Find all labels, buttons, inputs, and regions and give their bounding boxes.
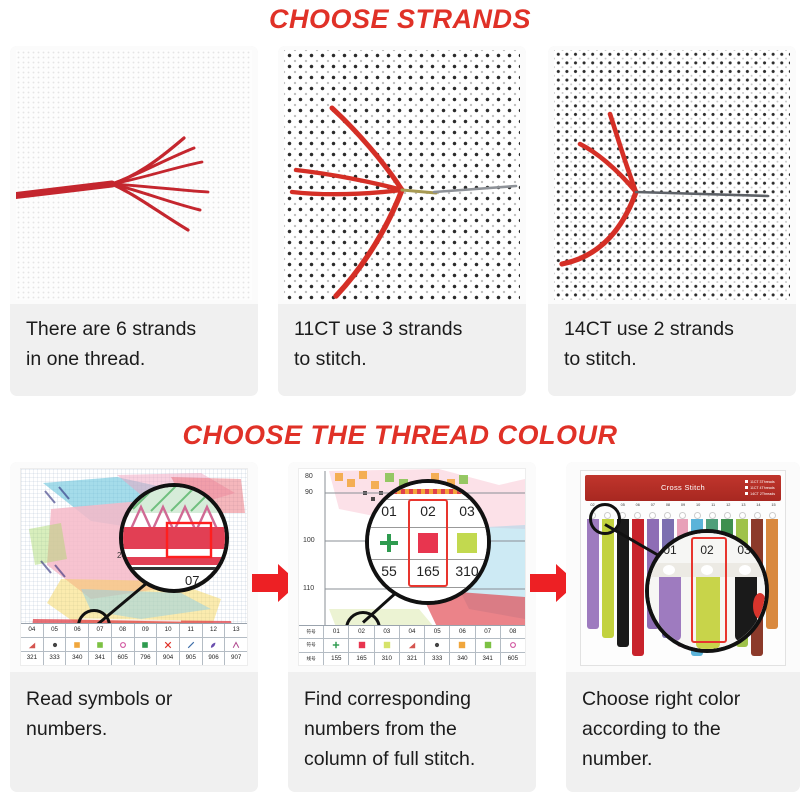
infographic-page: CHOOSE STRANDS There are 6 strands in on… [0, 0, 800, 800]
caption-line-1: There are 6 strands [26, 314, 248, 344]
legend-code-cell: 341 [476, 653, 501, 665]
legend-index-cell: 09 [135, 624, 158, 637]
dot-icon [44, 638, 67, 651]
thread-number: 15 [766, 503, 781, 512]
orange-square-icon [66, 638, 89, 651]
photo-thread-organiser: Cross Stitch 11CT 3Threads 11CT 4Threads… [566, 462, 800, 672]
caption-line-2: numbers from the [304, 714, 526, 744]
green-plus-icon [324, 639, 349, 651]
photo-pattern-chart: 24 [10, 462, 258, 672]
thread-number: 09 [675, 503, 690, 512]
legend-code-cell: 341 [89, 652, 112, 665]
section-title-choose-strands: CHOOSE STRANDS [0, 4, 800, 35]
pattern-symbol-legend: 04 05 06 07 08 09 10 11 12 13 [21, 623, 247, 665]
magnifier-source-ring [589, 503, 621, 535]
caption-11ct: 11CT use 3 strands to stitch. [294, 314, 516, 374]
skein-hole [709, 512, 716, 519]
legend-code-cell: 310 [375, 653, 400, 665]
red-filled-square-icon [349, 639, 374, 651]
skein-hole [754, 512, 761, 519]
caption-read-symbols: Read symbols or numbers. [26, 684, 248, 744]
thread-six-strands-illustration [16, 50, 252, 300]
magnified-thread-number: 01 [653, 543, 687, 557]
caption-line-3: column of full stitch. [304, 744, 526, 774]
thread-number: 14 [751, 503, 766, 512]
legend-index-cell: 05 [44, 624, 67, 637]
leaf-icon [203, 638, 226, 651]
magnified-thread-number: 03 [727, 543, 761, 557]
legend-code-cell: 340 [450, 653, 475, 665]
card-find-numbers: 80 90 100 110 [288, 462, 536, 792]
mid-chart-legend: 符号 01 02 03 04 05 06 07 08 符号 [299, 625, 525, 665]
legend-index-cell: 08 [501, 626, 525, 638]
magnified-skein-detail: 01 02 03 [649, 533, 765, 649]
legend-index-cell: 13 [225, 624, 247, 637]
floss-skein [766, 512, 778, 629]
legend-index-cell: 04 [21, 624, 44, 637]
legend-index-cell: 08 [112, 624, 135, 637]
card-14ct: 14CT use 2 strands to stitch. [548, 46, 796, 396]
skein-hole [769, 512, 776, 519]
photo-14ct-fabric [548, 46, 796, 304]
caption-line-2: numbers. [26, 714, 248, 744]
thread-number: 11 [706, 503, 721, 512]
skein-floss [602, 519, 614, 638]
legend-index-cell: 11 [180, 624, 203, 637]
skein-floss [587, 519, 599, 629]
legend-row-symbols [21, 637, 247, 651]
green-square-icon [89, 638, 112, 651]
axis-label-row: 100 [303, 537, 315, 544]
axis-label-top: 80 [305, 473, 313, 480]
green-plus-icon [377, 531, 401, 555]
caption-choose-color: Choose right color according to the numb… [582, 684, 790, 774]
legend-row-codes: 321 333 340 341 605 796 904 905 906 907 [21, 651, 247, 665]
card-six-strands: There are 6 strands in one thread. [10, 46, 258, 396]
caption-line-1: Read symbols or [26, 684, 248, 714]
photo-11ct-fabric [278, 46, 526, 304]
legend-code-cell: 904 [157, 652, 180, 665]
triangle-icon [21, 638, 44, 651]
caption-line-2: to stitch. [294, 344, 516, 374]
legend-code-cell: 905 [180, 652, 203, 665]
caption-line-1: Choose right color [582, 684, 790, 714]
circle-icon [501, 639, 525, 651]
skein-hole [739, 512, 746, 519]
x-cross-icon [157, 638, 180, 651]
magnifier-lens-pattern: 07 [119, 483, 229, 593]
thread-number: 10 [691, 503, 706, 512]
legend-index-cell: 12 [203, 624, 226, 637]
photo-chart-columns: 80 90 100 110 [288, 462, 536, 672]
skein-hole [694, 512, 701, 519]
thread-number: 13 [736, 503, 751, 512]
legend-index-cell: 02 [349, 626, 374, 638]
card-choose-color: Cross Stitch 11CT 3Threads 11CT 4Threads… [566, 462, 800, 792]
svg-text:07: 07 [185, 573, 199, 588]
legend-index-cell: 01 [324, 626, 349, 638]
thread-organiser-card: Cross Stitch 11CT 3Threads 11CT 4Threads… [580, 470, 786, 666]
thread-three-strands-with-needle [284, 50, 520, 300]
thread-number: 07 [645, 503, 660, 512]
legend-row-codes: 线号 155 165 310 321 333 340 341 605 [299, 652, 525, 665]
legend-code-cell: 796 [135, 652, 158, 665]
caption-line-1: Find corresponding [304, 684, 526, 714]
legend-row-index: 符号 01 02 03 04 05 06 07 08 [299, 626, 525, 638]
thread-number: 08 [660, 503, 675, 512]
skein-hole [724, 512, 731, 519]
legend-index-cell: 03 [375, 626, 400, 638]
section-title-choose-thread-colour: CHOOSE THE THREAD COLOUR [0, 420, 800, 451]
caption-line-2: to stitch. [564, 344, 786, 374]
magnified-skein-red [753, 593, 767, 619]
caption-six-strands: There are 6 strands in one thread. [26, 314, 248, 374]
caption-line-1: 11CT use 3 strands [294, 314, 516, 344]
legend-index-cell: 04 [400, 626, 425, 638]
caption-find-numbers: Find corresponding numbers from the colu… [304, 684, 526, 774]
legend-row-label: 线号 [299, 653, 324, 665]
lime-square-icon [375, 639, 400, 651]
caption-line-1: 14CT use 2 strands [564, 314, 786, 344]
column-number: 310 [449, 563, 485, 579]
column-header: 03 [449, 503, 485, 519]
legend-code-cell: 321 [21, 652, 44, 665]
stitch-band [369, 489, 487, 494]
column-header: 01 [371, 503, 407, 519]
legend-index-cell: 07 [89, 624, 112, 637]
highlight-thread-02 [691, 537, 727, 643]
legend-code-cell: 340 [66, 652, 89, 665]
legend-index-cell: 07 [476, 626, 501, 638]
legend-index-cell: 06 [450, 626, 475, 638]
legend-row-symbols: 符号 [299, 638, 525, 651]
legend-code-cell: 155 [324, 653, 349, 665]
dot-icon [425, 639, 450, 651]
thread-card-header: Cross Stitch 11CT 3Threads 11CT 4Threads… [585, 475, 781, 501]
green-square-icon [476, 639, 501, 651]
legend-index-cell: 06 [66, 624, 89, 637]
legend-code-cell: 907 [225, 652, 247, 665]
thread-two-strands-with-needle [554, 50, 790, 300]
axis-label-row: 110 [303, 585, 314, 592]
legend-code-cell: 333 [44, 652, 67, 665]
triangle-icon [400, 639, 425, 651]
thread-number: 12 [721, 503, 736, 512]
caption-14ct: 14CT use 2 strands to stitch. [564, 314, 786, 374]
skein-hole [679, 512, 686, 519]
thread-card-legend: 11CT 3Threads 11CT 4Threads 14CT 2Thread… [745, 479, 775, 497]
backslash-icon [180, 638, 203, 651]
green-square-icon [455, 531, 479, 555]
caret-icon [225, 638, 247, 651]
legend-code-cell: 333 [425, 653, 450, 665]
magnifier-lens-columns: 01 02 03 55 165 [365, 479, 491, 605]
legend-index-cell: 10 [157, 624, 180, 637]
legend-row-label: 符号 [299, 639, 324, 651]
orange-square-icon [450, 639, 475, 651]
green-filled-square-icon [135, 638, 158, 651]
skein-floss [766, 519, 778, 629]
skein-hole [634, 512, 641, 519]
legend-code-cell: 321 [400, 653, 425, 665]
mid-pattern-chart: 80 90 100 110 [298, 468, 526, 666]
axis-label-row: 90 [305, 489, 313, 496]
legend-code-cell: 906 [203, 652, 226, 665]
thread-number: 06 [630, 503, 645, 512]
legend-item: 14CT 2Threads [745, 491, 775, 497]
skein-hole [664, 512, 671, 519]
circle-icon [112, 638, 135, 651]
magnified-skein-01 [659, 577, 681, 641]
column-number: 55 [371, 563, 407, 579]
card-11ct: 11CT use 3 strands to stitch. [278, 46, 526, 396]
legend-index-cell: 05 [425, 626, 450, 638]
legend-code-cell: 605 [501, 653, 525, 665]
legend-row-index: 04 05 06 07 08 09 10 11 12 13 [21, 624, 247, 637]
legend-code-cell: 605 [112, 652, 135, 665]
floss-skein [632, 512, 644, 656]
magnified-stitch-detail: 07 [123, 487, 225, 589]
legend-row-label: 符号 [299, 626, 324, 638]
card-read-symbols: 24 [10, 462, 258, 792]
caption-line-2: according to the [582, 714, 790, 744]
photo-six-strands [10, 46, 258, 304]
caption-line-2: in one thread. [26, 344, 248, 374]
caption-line-3: number. [582, 744, 790, 774]
legend-code-cell: 165 [349, 653, 374, 665]
skein-hole [649, 512, 656, 519]
magnified-column-table: 01 02 03 55 165 [369, 483, 487, 601]
highlight-column-02 [408, 499, 448, 587]
pattern-chart: 24 [20, 468, 248, 666]
magnifier-lens-threads: 01 02 03 [645, 529, 769, 653]
